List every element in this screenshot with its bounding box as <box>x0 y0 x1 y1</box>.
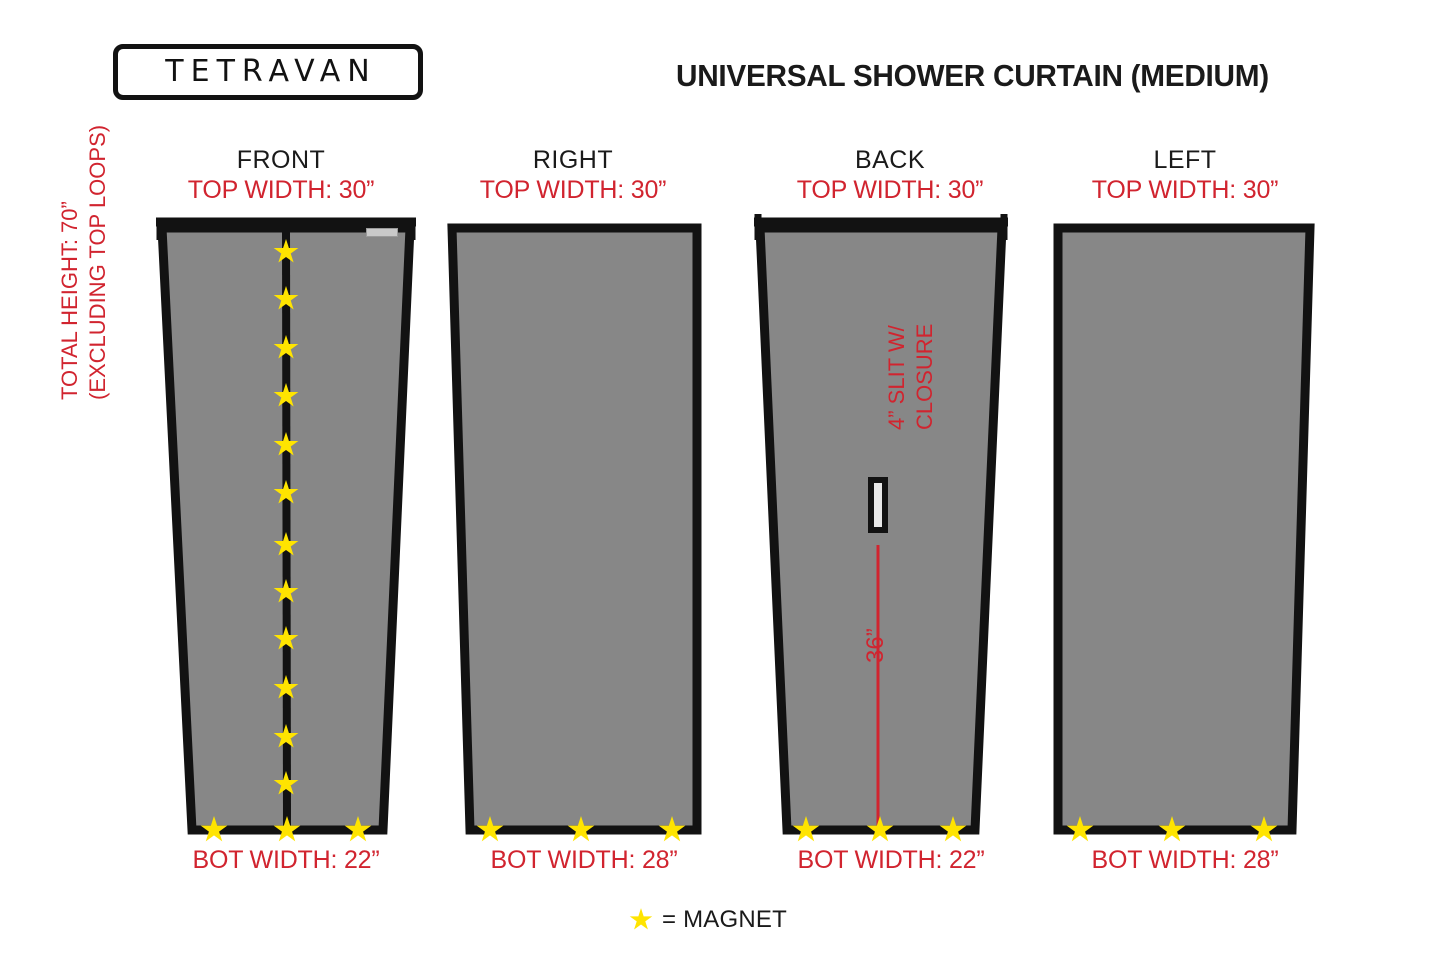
panel-right-body <box>452 228 697 830</box>
panel-back-slit <box>871 480 885 530</box>
front-panel-brand-tag <box>366 228 398 237</box>
panel-right <box>452 228 697 841</box>
slit-callout-label: 4” SLIT W/ CLOSURE <box>883 200 938 430</box>
panel-bot-width-left: BOT WIDTH: 28” <box>1035 846 1335 875</box>
panel-back <box>754 214 1008 841</box>
panel-left <box>1058 228 1310 841</box>
total-height-caption: TOTAL HEIGHT: 70” (EXCLUDING TOP LOOPS) <box>56 100 112 400</box>
slit-dimension-label: 36” <box>862 593 890 663</box>
panel-bot-width-front: BOT WIDTH: 22” <box>136 846 436 875</box>
magnet-star-icon <box>628 907 654 933</box>
legend: = MAGNET <box>628 906 787 934</box>
panel-bot-width-right: BOT WIDTH: 28” <box>434 846 734 875</box>
panel-bot-width-back: BOT WIDTH: 22” <box>741 846 1041 875</box>
panel-front <box>156 218 416 841</box>
total-height-line-1: TOTAL HEIGHT: 70” <box>56 100 84 400</box>
curtain-panels-diagram <box>0 0 1445 963</box>
slit-callout-line-1: 4” SLIT W/ <box>883 200 911 430</box>
legend-label: = MAGNET <box>662 906 787 934</box>
slit-callout-line-2: CLOSURE <box>911 200 939 430</box>
panel-left-body <box>1058 228 1310 830</box>
total-height-line-2: (EXCLUDING TOP LOOPS) <box>84 100 112 400</box>
